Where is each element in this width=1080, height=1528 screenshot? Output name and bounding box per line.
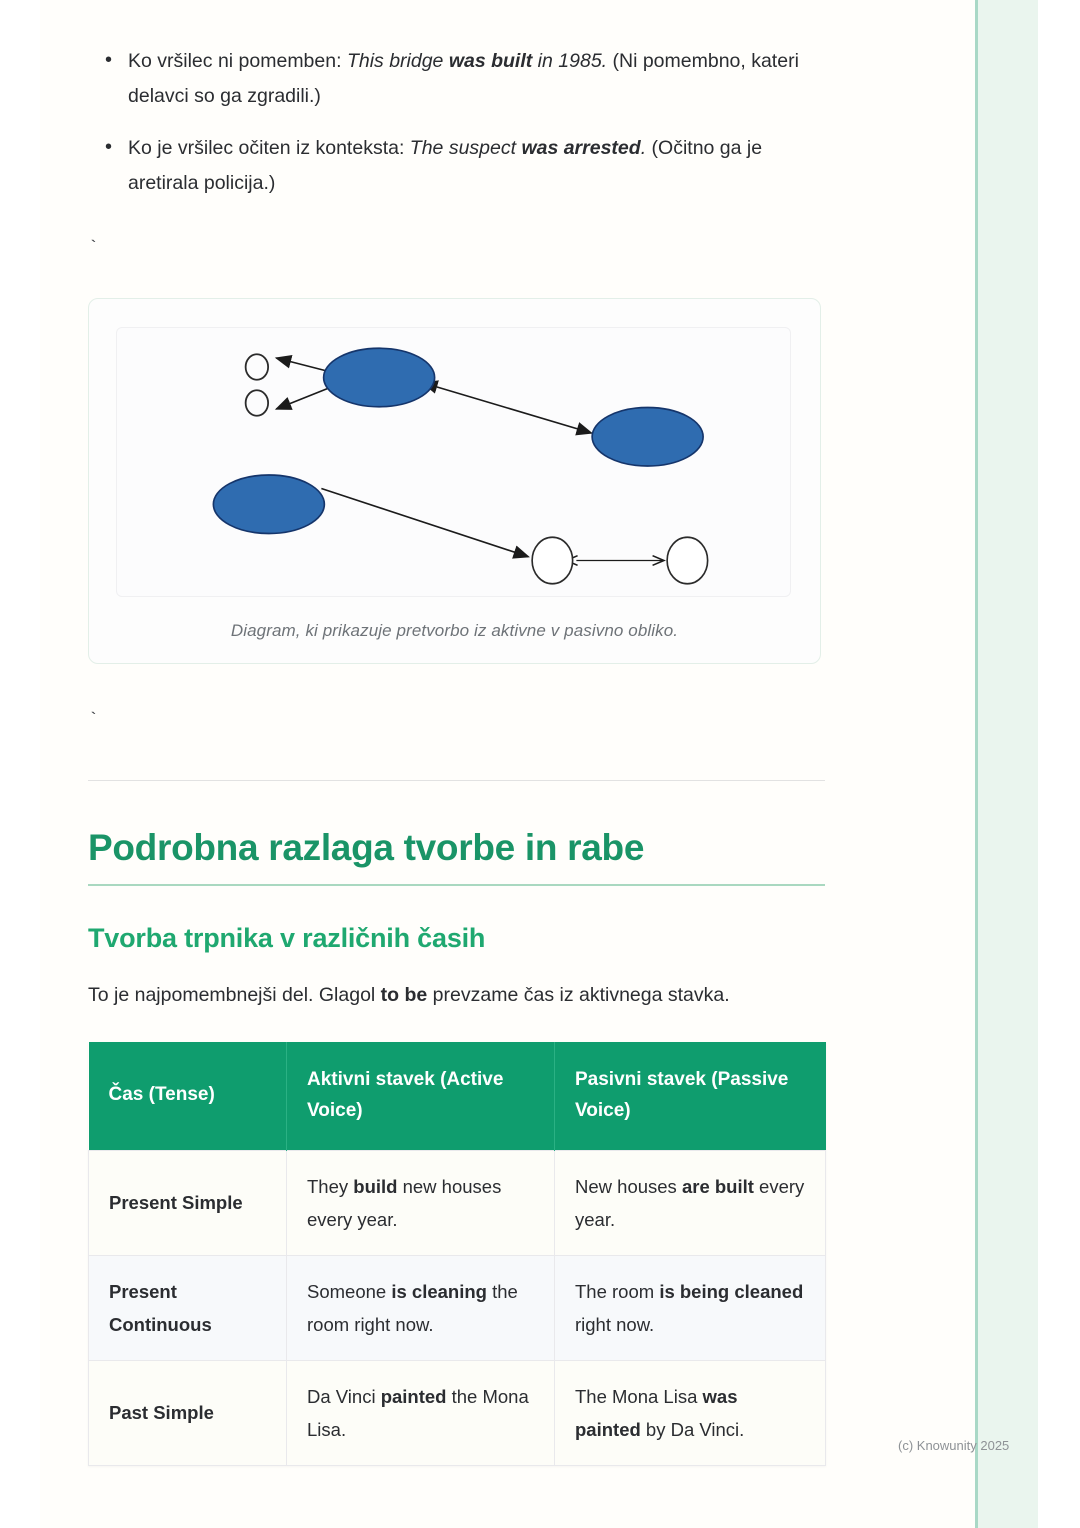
ellipse-object-node [592,408,703,467]
active-bold: build [353,1176,397,1197]
stray-backtick-mark-2: ` [88,712,828,730]
diagram-canvas [116,327,791,597]
cell-active: Da Vinci painted the Mona Lisa. [287,1360,555,1465]
bullet-bold-italic-verb: was arrested [521,137,640,159]
intro-paragraph: To je najpomembnejši del. Glagol to be p… [88,980,828,1010]
active-lead: Someone [307,1281,391,1302]
bullet-lead-text: Ko vršilec ni pomemben: [128,50,347,72]
circle-by-phrase-node [667,537,708,584]
intro-bold-term: to be [381,984,428,1006]
bullet-italic-example-end: in 1985. [532,50,607,72]
bullet-italic-example: The suspect [410,137,522,159]
ellipse-agent-node [213,475,324,534]
cell-passive: The Mona Lisa was painted by Da Vinci. [555,1360,826,1465]
stray-backtick-mark: ` [88,240,828,258]
passive-lead: The room [575,1281,659,1302]
page-title: Podrobna razlaga tvorbe in rabe [88,827,825,886]
cell-passive: New houses are built every year. [555,1150,826,1255]
intro-tail-text: prevzame čas iz aktivnega stavka. [427,984,729,1006]
cell-tense: Present Simple [89,1150,287,1255]
content-column: Ko vršilec ni pomemben: This bridge was … [88,0,828,1466]
active-bold: is cleaning [391,1281,487,1302]
passive-tail: right now. [575,1314,654,1335]
passive-lead: New houses [575,1176,682,1197]
usage-bullet-list: Ko vršilec ni pomemben: This bridge was … [88,44,828,201]
column-header-active: Aktivni stavek (Active Voice) [287,1042,555,1151]
active-passive-diagram [117,328,791,597]
small-circle-top-node [246,354,269,380]
bullet-bold-italic-verb: was built [449,50,532,72]
intro-lead-text: To je najpomembnejši del. Glagol [88,984,381,1006]
cell-tense: Past Simple [89,1360,287,1465]
cell-passive: The room is being cleaned right now. [555,1255,826,1360]
copyright-watermark: (c) Knowunity 2025 [898,1438,1009,1453]
passive-lead: The Mona Lisa [575,1386,703,1407]
column-header-passive: Pasivni stavek (Passive Voice) [555,1042,826,1151]
list-item: Ko je vršilec očiten iz konteksta: The s… [128,131,828,201]
table-row: Past Simple Da Vinci painted the Mona Li… [89,1360,826,1465]
cell-active: Someone is cleaning the room right now. [287,1255,555,1360]
small-circle-second-node [246,390,269,416]
bullet-italic-example: This bridge [347,50,449,72]
table-header-row: Čas (Tense) Aktivni stavek (Active Voice… [89,1042,826,1151]
passive-bold: is being cleaned [659,1281,803,1302]
table-row: Present Continuous Someone is cleaning t… [89,1255,826,1360]
edge-subject-to-second [276,388,329,409]
cell-active: They build new houses every year. [287,1150,555,1255]
edge-subject-to-top [276,358,329,372]
active-bold: painted [381,1386,447,1407]
circle-passive-node [532,537,573,584]
bullet-lead-text: Ko je vršilec očiten iz konteksta: [128,137,410,159]
table-row: Present Simple They build new houses eve… [89,1150,826,1255]
figure-container: Diagram, ki prikazuje pretvorbo iz aktiv… [88,298,821,664]
edge-agent-to-passive [321,489,528,557]
ellipse-subject-node [324,348,435,407]
decorative-green-band [975,0,1038,1528]
figure-caption: Diagram, ki prikazuje pretvorbo iz aktiv… [116,621,793,641]
active-lead: Da Vinci [307,1386,381,1407]
passive-bold: are built [682,1176,754,1197]
page-canvas: Ko vršilec ni pomemben: This bridge was … [0,0,1080,1528]
tenses-table: Čas (Tense) Aktivni stavek (Active Voice… [88,1042,826,1466]
cell-tense: Present Continuous [89,1255,287,1360]
active-lead: They [307,1176,353,1197]
edge-object-to-subject [435,387,591,434]
diagram-nodes [213,348,707,584]
column-header-tense: Čas (Tense) [89,1042,287,1151]
list-item: Ko vršilec ni pomemben: This bridge was … [128,44,828,114]
passive-tail: by Da Vinci. [641,1419,745,1440]
section-subtitle: Tvorba trpnika v različnih časih [88,922,828,954]
